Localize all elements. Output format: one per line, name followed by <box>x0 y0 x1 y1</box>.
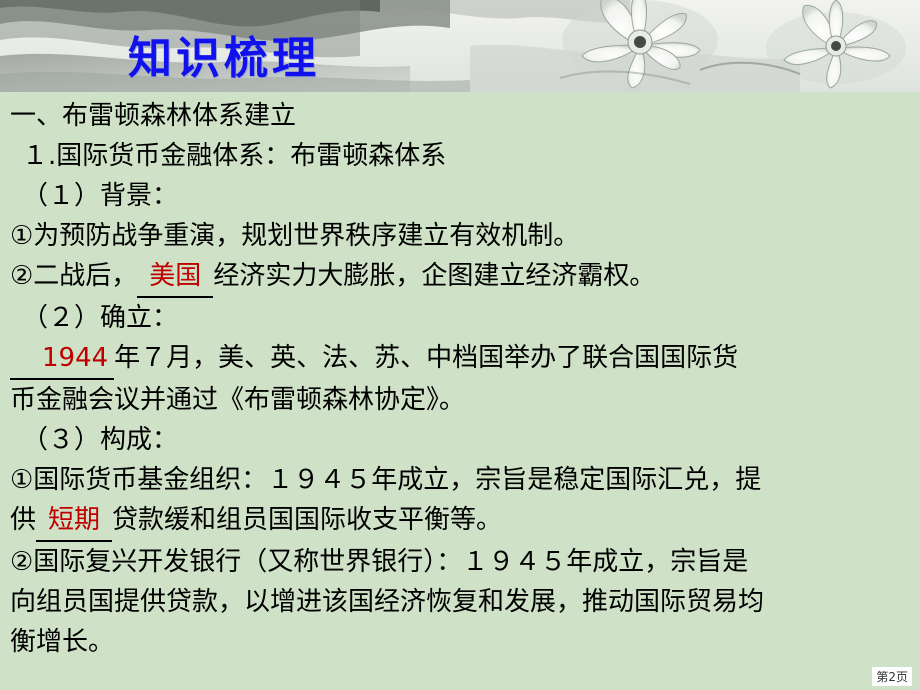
content-line-3: （１）背景： <box>10 176 910 216</box>
content-line-5: ②二战后，美国经济实力大膨胀，企图建立经济霸权。 <box>10 256 910 298</box>
content-line-11: 供短期贷款缓和组员国国际收支平衡等。 <box>10 500 910 542</box>
line7-suffix: 年７月，美、英、法、苏、中档国举办了联合国国际货 <box>114 343 738 373</box>
content-body: 一、布雷顿森林体系建立 １.国际货币金融体系：布雷顿森体系 （１）背景： ①为预… <box>0 96 920 662</box>
content-line-10: ①国际货币基金组织：１９４５年成立，宗旨是稳定国际汇兑，提 <box>10 460 910 500</box>
line5-prefix: ②二战后， <box>10 261 137 291</box>
blank-answer-1944: 1944 <box>36 338 114 380</box>
line11-prefix: 供 <box>10 505 36 535</box>
line11-suffix: 贷款缓和组员国国际收支平衡等。 <box>112 505 502 535</box>
content-line-4: ①为预防战争重演，规划世界秩序建立有效机制。 <box>10 216 910 256</box>
line5-suffix: 经济实力大膨胀，企图建立经济霸权。 <box>213 261 655 291</box>
content-line-7: 1944年７月，美、英、法、苏、中档国举办了联合国国际货 <box>10 338 910 380</box>
blank-answer-duanqi: 短期 <box>36 500 112 542</box>
blank-lead-underline <box>10 352 36 380</box>
blank-answer-meiguo: 美国 <box>137 256 213 298</box>
content-line-2: １.国际货币金融体系：布雷顿森体系 <box>10 136 910 176</box>
content-line-14: 衡增长。 <box>10 622 910 662</box>
page-title: 知识梳理 <box>128 22 320 86</box>
content-line-12: ②国际复兴开发银行（又称世界银行）：１９４５年成立，宗旨是 <box>10 542 910 582</box>
content-line-8: 币金融会议并通过《布雷顿森林协定》。 <box>10 380 910 420</box>
content-line-6: （２）确立： <box>10 298 910 338</box>
content-line-9: （３）构成： <box>10 420 910 460</box>
page-number: 第2页 <box>872 667 912 686</box>
content-line-1: 一、布雷顿森林体系建立 <box>10 96 910 136</box>
content-line-13: 向组员国提供贷款，以增进该国经济恢复和发展，推动国际贸易均 <box>10 582 910 622</box>
slide: 知识梳理 一、布雷顿森林体系建立 １.国际货币金融体系：布雷顿森体系 （１）背景… <box>0 0 920 690</box>
